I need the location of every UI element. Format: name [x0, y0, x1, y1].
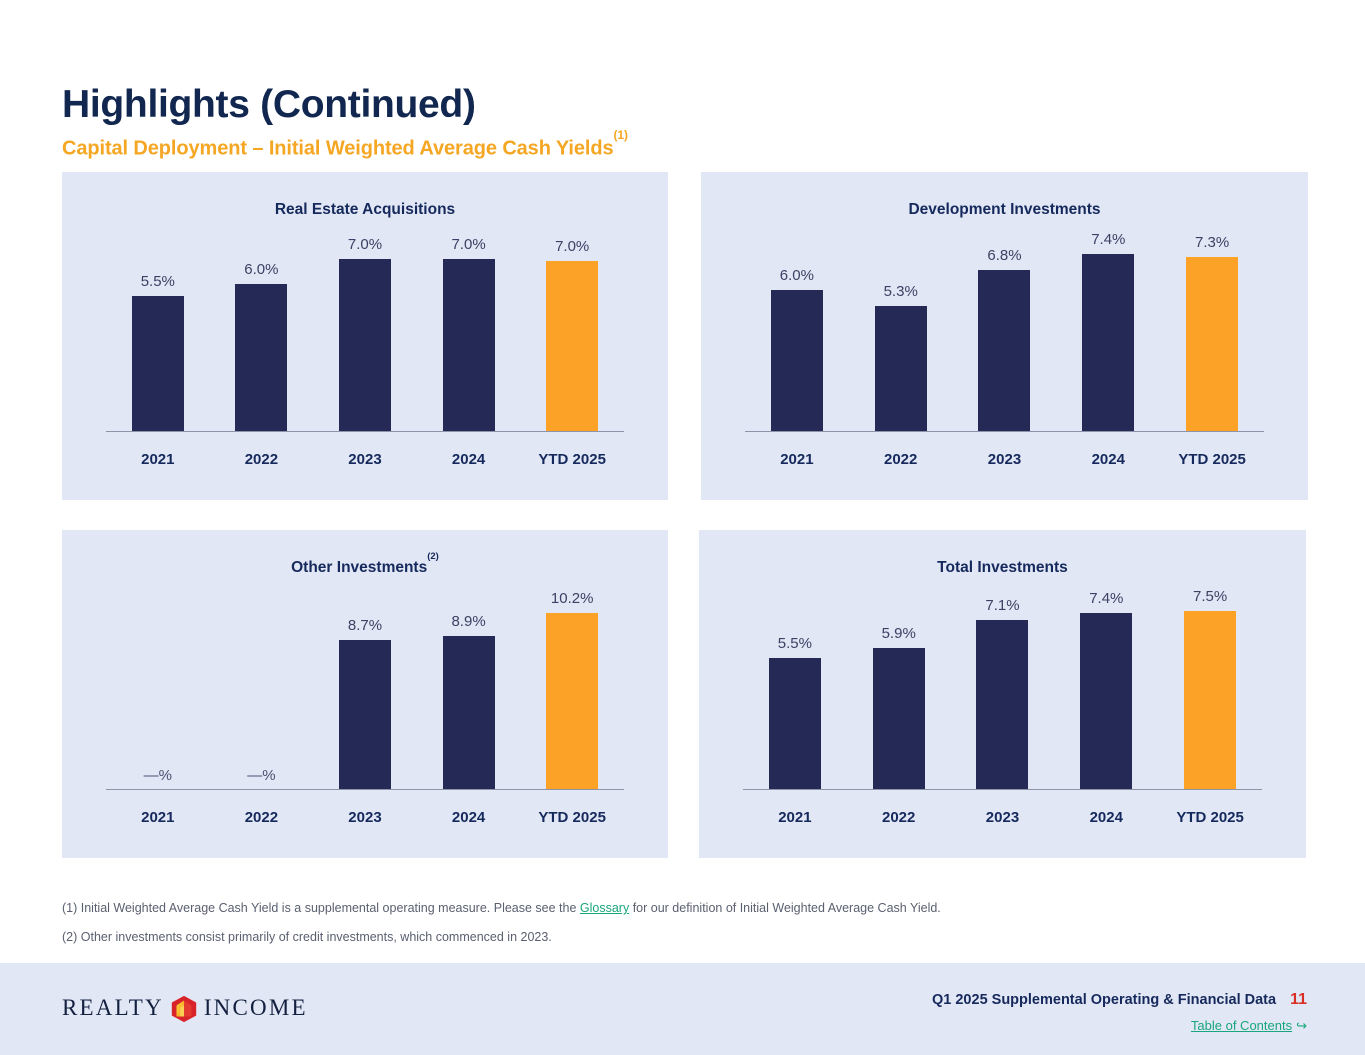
x-axis-tick-label: 2024 [1056, 451, 1160, 468]
footer-document-line: Q1 2025 Supplemental Operating & Financi… [932, 991, 1307, 1009]
logo-text-income: INCOME [204, 995, 308, 1021]
chart-title: Real Estate Acquisitions [62, 200, 668, 219]
bar[interactable] [1080, 613, 1132, 790]
x-axis-tick-label: 2022 [210, 809, 314, 826]
bar-slot: 5.5% [743, 588, 847, 790]
bar-slot: 10.2% [520, 588, 624, 790]
x-axis-tick-label: YTD 2025 [520, 809, 624, 826]
bar-slot: 6.0% [745, 230, 849, 432]
bar[interactable] [443, 259, 495, 432]
bar-value-label: 8.9% [451, 613, 485, 630]
bar-slot: 7.4% [1056, 230, 1160, 432]
bar-value-label: 6.0% [244, 261, 278, 278]
chart-title: Development Investments [701, 200, 1308, 219]
bar-highlighted[interactable] [1184, 611, 1236, 790]
chart-plot-area: 5.5% 6.0% 7.0% 7.0% 7.0% [106, 230, 624, 478]
footer-toc-line: Table of Contents↪ [932, 1017, 1307, 1035]
bar[interactable] [873, 648, 925, 790]
bar-slot: 6.0% [210, 230, 314, 432]
x-axis-tick-label: 2024 [1054, 809, 1158, 826]
footer-page-number: 11 [1290, 991, 1307, 1009]
x-axis-tick-label: YTD 2025 [520, 451, 624, 468]
bar-group: 6.0% 5.3% 6.8% 7.4% 7.3% [745, 230, 1264, 432]
bar-value-label: 8.7% [348, 617, 382, 634]
bar-value-label: —% [247, 767, 275, 784]
x-axis-line [106, 789, 624, 791]
footnote-1-prefix: (1) Initial Weighted Average Cash Yield … [62, 901, 580, 915]
bar-slot: —% [210, 588, 314, 790]
footnote-1-suffix: for our definition of Initial Weighted A… [629, 901, 941, 915]
x-axis-tick-label: 2021 [743, 809, 847, 826]
bar-value-label: 7.0% [348, 236, 382, 253]
x-axis-tick-label: 2021 [106, 809, 210, 826]
slide: Highlights (Continued) Capital Deploymen… [0, 0, 1365, 1055]
table-of-contents-link[interactable]: Table of Contents [1191, 1018, 1292, 1033]
page-subtitle: Capital Deployment – Initial Weighted Av… [62, 136, 628, 161]
x-axis-tick-label: 2022 [847, 809, 951, 826]
bar[interactable] [769, 658, 821, 790]
bar-value-label: 5.5% [141, 273, 175, 290]
bar-slot: 5.9% [847, 588, 951, 790]
bar-value-label: 7.0% [451, 236, 485, 253]
bar-value-label: 6.8% [987, 247, 1021, 264]
bar-slot: 7.5% [1158, 588, 1262, 790]
x-axis-tick-label: 2021 [745, 451, 849, 468]
bar-slot: 7.4% [1054, 588, 1158, 790]
glossary-link[interactable]: Glossary [580, 901, 629, 915]
page-subtitle-text: Capital Deployment – Initial Weighted Av… [62, 138, 614, 160]
bar-slot: 8.7% [313, 588, 417, 790]
x-axis-tick-label: 2024 [417, 809, 521, 826]
x-axis-tick-label: 2023 [953, 451, 1057, 468]
chart-plot-area: —% —% 8.7% 8.9% 10.2% [106, 588, 624, 836]
bar-highlighted[interactable] [1186, 257, 1238, 432]
bar-group: —% —% 8.7% 8.9% 10.2% [106, 588, 624, 790]
bar-slot: 8.9% [417, 588, 521, 790]
bar-slot: 7.0% [520, 230, 624, 432]
x-axis-tick-label: 2021 [106, 451, 210, 468]
chart-plot-area: 6.0% 5.3% 6.8% 7.4% 7.3% [745, 230, 1264, 478]
bar-value-label: 7.3% [1195, 234, 1229, 251]
realty-income-logo: REALTY INCOME [62, 993, 308, 1023]
bar-value-label: 7.0% [555, 238, 589, 255]
bar[interactable] [339, 259, 391, 432]
footnote-2: (2) Other investments consist primarily … [62, 929, 1162, 946]
bar-slot: —% [106, 588, 210, 790]
chart-title: Other Investments(2) [62, 558, 668, 577]
bar-slot: 5.5% [106, 230, 210, 432]
bar-value-label: 5.5% [778, 635, 812, 652]
bar[interactable] [132, 296, 184, 432]
bar-value-label: —% [144, 767, 172, 784]
bar-group: 5.5% 6.0% 7.0% 7.0% 7.0% [106, 230, 624, 432]
bar[interactable] [978, 270, 1030, 432]
bar-value-label: 6.0% [780, 267, 814, 284]
bar-slot: 7.1% [951, 588, 1055, 790]
chart-panel-other-investments: Other Investments(2) —% —% 8.7% 8.9% [62, 530, 668, 858]
chart-panel-total-investments: Total Investments 5.5% 5.9% 7.1% 7.4% [699, 530, 1306, 858]
bar-group: 5.5% 5.9% 7.1% 7.4% 7.5% [743, 588, 1262, 790]
bar-value-label: 7.4% [1089, 590, 1123, 607]
bar[interactable] [1082, 254, 1134, 432]
bar-slot: 7.0% [417, 230, 521, 432]
x-axis-line [745, 431, 1264, 433]
chart-title-text: Total Investments [937, 559, 1068, 576]
chart-panel-real-estate-acquisitions: Real Estate Acquisitions 5.5% 6.0% 7.0% … [62, 172, 668, 500]
footnote-1: (1) Initial Weighted Average Cash Yield … [62, 900, 1162, 917]
bar-value-label: 5.9% [882, 625, 916, 642]
bar-value-label: 7.1% [985, 597, 1019, 614]
bar[interactable] [443, 636, 495, 790]
bar[interactable] [235, 284, 287, 432]
chart-title-text: Real Estate Acquisitions [275, 201, 455, 218]
chart-plot-area: 5.5% 5.9% 7.1% 7.4% 7.5% [743, 588, 1262, 836]
chart-title-text: Development Investments [908, 201, 1100, 218]
x-axis-labels: 2021 2022 2023 2024 YTD 2025 [743, 809, 1262, 826]
x-axis-labels: 2021 2022 2023 2024 YTD 2025 [106, 451, 624, 468]
return-arrow-icon[interactable]: ↪ [1296, 1018, 1307, 1033]
x-axis-tick-label: 2023 [951, 809, 1055, 826]
page-subtitle-superscript: (1) [614, 128, 628, 142]
chart-panel-development-investments: Development Investments 6.0% 5.3% 6.8% 7… [701, 172, 1308, 500]
bar[interactable] [976, 620, 1028, 790]
x-axis-tick-label: 2022 [849, 451, 953, 468]
bar-slot: 5.3% [849, 230, 953, 432]
x-axis-tick-label: YTD 2025 [1158, 809, 1262, 826]
x-axis-labels: 2021 2022 2023 2024 YTD 2025 [106, 809, 624, 826]
page-footer: REALTY INCOME Q1 2025 Supplemental Opera… [0, 963, 1365, 1055]
chart-title-text: Other Investments [291, 559, 427, 576]
x-axis-line [106, 431, 624, 433]
footer-right: Q1 2025 Supplemental Operating & Financi… [932, 991, 1307, 1035]
x-axis-labels: 2021 2022 2023 2024 YTD 2025 [745, 451, 1264, 468]
bar[interactable] [875, 306, 927, 432]
bar-value-label: 10.2% [551, 590, 594, 607]
x-axis-tick-label: 2023 [313, 451, 417, 468]
x-axis-tick-label: 2023 [313, 809, 417, 826]
bar-slot: 7.0% [313, 230, 417, 432]
bar-value-label: 7.4% [1091, 231, 1125, 248]
footnotes: (1) Initial Weighted Average Cash Yield … [62, 900, 1162, 958]
x-axis-line [743, 789, 1262, 791]
bar[interactable] [339, 640, 391, 790]
bar-slot: 7.3% [1160, 230, 1264, 432]
bar-slot: 6.8% [953, 230, 1057, 432]
bar-highlighted[interactable] [546, 261, 598, 432]
logo-text-realty: REALTY [62, 995, 164, 1021]
realty-income-hexagon-house-icon [169, 994, 199, 1024]
footer-document-title: Q1 2025 Supplemental Operating & Financi… [932, 992, 1276, 1008]
page-title: Highlights (Continued) [62, 84, 476, 127]
bar-highlighted[interactable] [546, 613, 598, 790]
x-axis-tick-label: 2024 [417, 451, 521, 468]
bar-value-label: 5.3% [884, 283, 918, 300]
bar[interactable] [771, 290, 823, 432]
chart-title-superscript: (2) [427, 551, 439, 562]
x-axis-tick-label: YTD 2025 [1160, 451, 1264, 468]
x-axis-tick-label: 2022 [210, 451, 314, 468]
chart-title: Total Investments [699, 558, 1306, 577]
bar-value-label: 7.5% [1193, 588, 1227, 605]
